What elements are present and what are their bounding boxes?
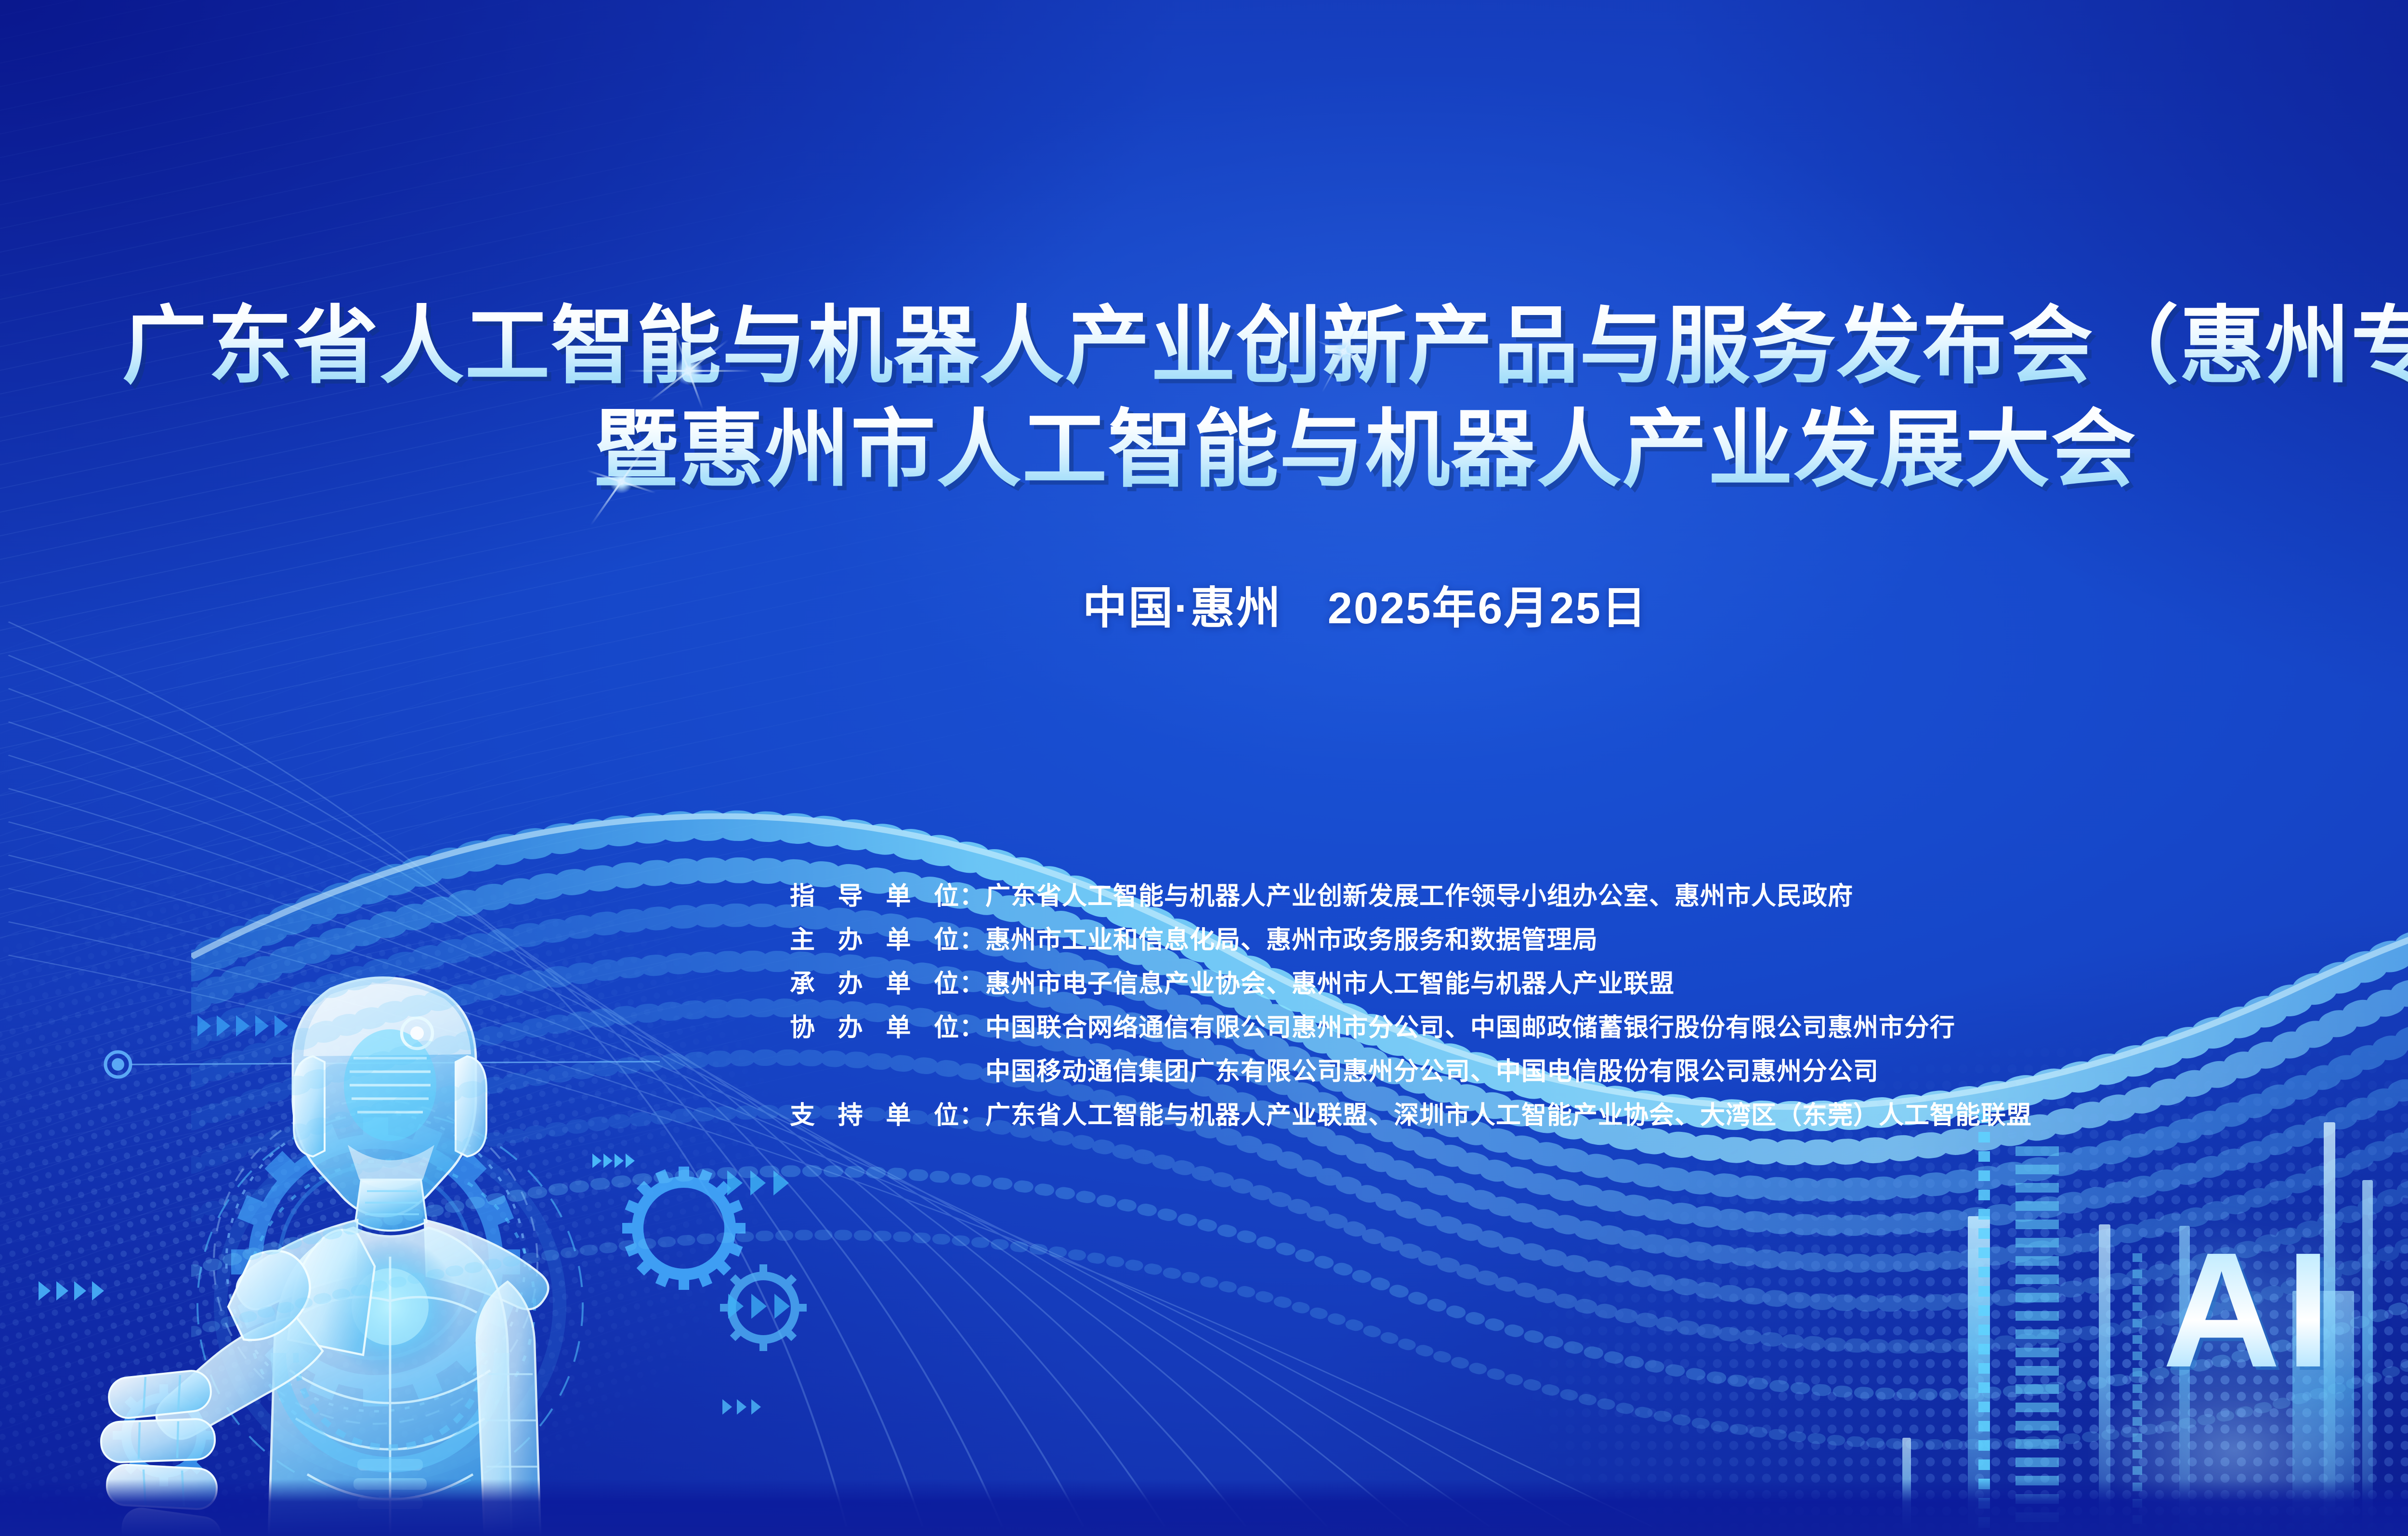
- organizer-row: 承办单位 ： 惠州市电子信息产业协会、惠州市人工智能与机器人产业联盟: [790, 963, 2032, 999]
- title-block: 广东省人工智能与机器人产业创新产品与服务发布会（惠州专场） 暨惠州市人工智能与机…: [0, 295, 2408, 501]
- conference-banner: AI 广东省人工智能与机器人产业创新产品与服务发布会（惠州专场） 暨惠州市人工智…: [0, 0, 2408, 1536]
- organizer-row: 主办单位 ： 惠州市工业和信息化局、惠州市政务服务和数据管理局: [790, 919, 2032, 956]
- ai-logo: AI: [2162, 1228, 2336, 1392]
- organizer-colon: ：: [959, 1095, 985, 1131]
- bottom-gradient-band: [0, 1479, 2408, 1536]
- organizer-value: 广东省人工智能与机器人产业创新发展工作领导小组办公室、惠州市人民政府: [985, 876, 1853, 912]
- organizer-label: 指导单位: [790, 876, 959, 912]
- organizer-label: 主办单位: [790, 919, 959, 956]
- humanoid-robot-figure: [72, 939, 669, 1536]
- title-line-1: 广东省人工智能与机器人产业创新产品与服务发布会（惠州专场）: [0, 295, 2408, 398]
- organizer-colon: ：: [959, 919, 985, 956]
- organizer-value: 广东省人工智能与机器人产业联盟、深圳市人工智能产业协会、大湾区（东莞）人工智能联…: [985, 1095, 2032, 1131]
- organizer-colon: ：: [959, 876, 985, 912]
- organizer-label: 承办单位: [790, 963, 959, 999]
- organizer-colon: ：: [959, 1007, 985, 1043]
- organizer-value: 中国联合网络通信有限公司惠州市分公司、中国邮政储蓄银行股份有限公司惠州市分行: [985, 1007, 1955, 1043]
- organizer-label: 协办单位: [790, 1007, 959, 1043]
- organizer-label: 支持单位: [790, 1095, 959, 1131]
- organizer-colon: ：: [959, 963, 985, 999]
- equalizer-bar-dashed: [2015, 1146, 2059, 1536]
- equalizer-bar-dashed: [1978, 1113, 1990, 1536]
- organizer-value: 中国移动通信集团广东有限公司惠州分公司、中国电信股份有限公司惠州分公司: [985, 1051, 1879, 1087]
- organizer-value: 惠州市工业和信息化局、惠州市政务服务和数据管理局: [985, 919, 1598, 956]
- organizer-row: 支持单位 ： 广东省人工智能与机器人产业联盟、深圳市人工智能产业协会、大湾区（东…: [790, 1095, 2032, 1131]
- organizer-row-continuation: 协办单位 ： 中国移动通信集团广东有限公司惠州分公司、中国电信股份有限公司惠州分…: [790, 1051, 2032, 1087]
- organizer-row: 协办单位 ： 中国联合网络通信有限公司惠州市分公司、中国邮政储蓄银行股份有限公司…: [790, 1007, 2032, 1043]
- subtitle-line: 中国·惠州 2025年6月25日: [0, 572, 2408, 636]
- organizer-value: 惠州市电子信息产业协会、惠州市人工智能与机器人产业联盟: [985, 963, 1675, 999]
- organizers-block: 指导单位 ： 广东省人工智能与机器人产业创新发展工作领导小组办公室、惠州市人民政…: [790, 876, 2032, 1139]
- organizer-row: 指导单位 ： 广东省人工智能与机器人产业创新发展工作领导小组办公室、惠州市人民政…: [790, 876, 2032, 912]
- title-line-2: 暨惠州市人工智能与机器人产业发展大会: [0, 398, 2408, 502]
